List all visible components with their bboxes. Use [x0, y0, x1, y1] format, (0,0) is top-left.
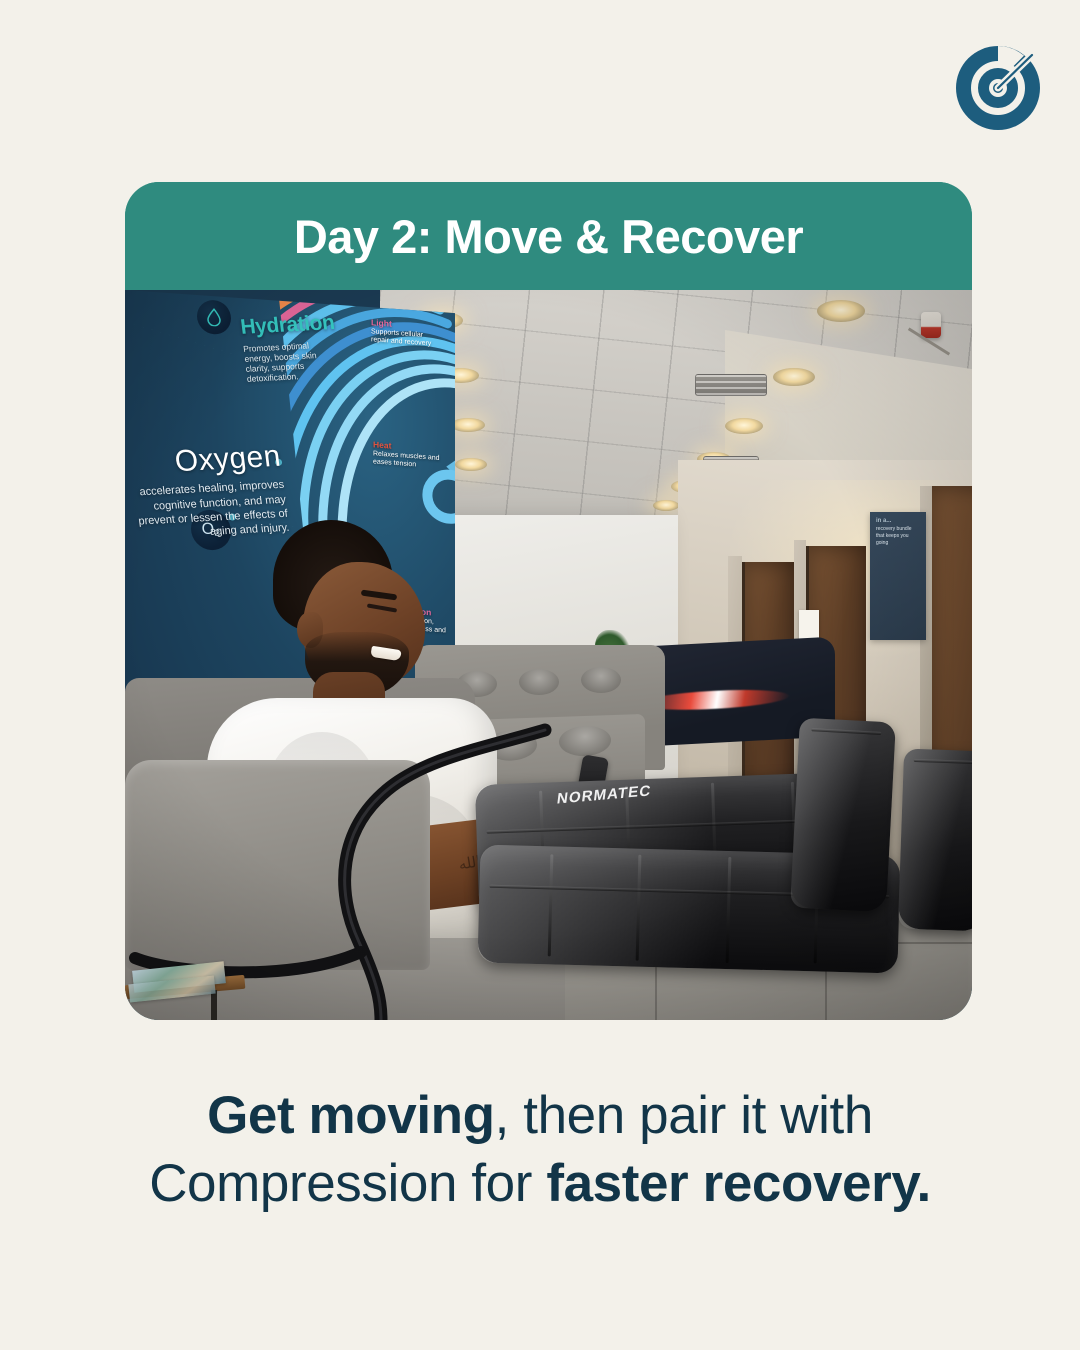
ceiling-downlight — [773, 368, 815, 386]
hallway-poster: in a... recovery bundle that keeps you g… — [870, 512, 926, 640]
fire-alarm-strobe — [921, 312, 941, 338]
mural-side-label: Light Supports cellular repair and recov… — [371, 317, 441, 350]
banner-title: Day 2: Move & Recover — [294, 209, 803, 264]
caption-regular-2: Compression for — [149, 1154, 546, 1213]
content-card: Day 2: Move & Recover — [125, 182, 972, 1020]
brand-logo — [952, 42, 1044, 134]
caption-line-1: Get moving, then pair it with — [90, 1082, 990, 1150]
caption-bold-2: faster recovery. — [546, 1154, 930, 1213]
water-drop-icon — [197, 299, 231, 335]
caption-bold-1: Get moving — [207, 1086, 495, 1145]
ceiling-downlight — [653, 500, 679, 511]
lifestyle-photo: in a... recovery bundle that keeps you g… — [125, 290, 972, 1020]
social-post-canvas: Day 2: Move & Recover — [0, 0, 1080, 1350]
mural-hydration-block: Hydration Promotes optimal energy, boost… — [239, 311, 339, 384]
ceiling-downlight — [455, 458, 487, 471]
mural-side-label-body: Supports cellular repair and recovery — [371, 328, 431, 348]
compression-boot-foot-cuff — [790, 718, 896, 913]
compression-boot-foot-cuff — [898, 749, 972, 932]
ceiling-downlight — [451, 418, 485, 432]
side-table-leg — [211, 990, 217, 1020]
ceiling-air-vent — [695, 374, 767, 396]
mural-hydration-title: Hydration — [239, 311, 336, 339]
speedometer-gauge-icon — [952, 42, 1044, 134]
caption-text: Get moving, then pair it with Compressio… — [90, 1082, 990, 1218]
mural-side-label: Heat Relaxes muscles and eases tension — [373, 439, 443, 472]
caption-regular-1: , then pair it with — [495, 1086, 873, 1145]
ceiling-downlight — [725, 418, 763, 434]
ceiling-downlight — [817, 300, 865, 322]
hallway-poster-title: in a... — [876, 518, 920, 524]
mural-hydration-body: Promotes optimal energy, boosts skin cla… — [243, 339, 339, 384]
caption-line-2: Compression for faster recovery. — [90, 1150, 990, 1218]
mural-oxygen-title: Oxygen — [173, 440, 283, 479]
card-banner: Day 2: Move & Recover — [125, 182, 972, 290]
hallway-poster-body: recovery bundle that keeps you going — [876, 526, 920, 546]
